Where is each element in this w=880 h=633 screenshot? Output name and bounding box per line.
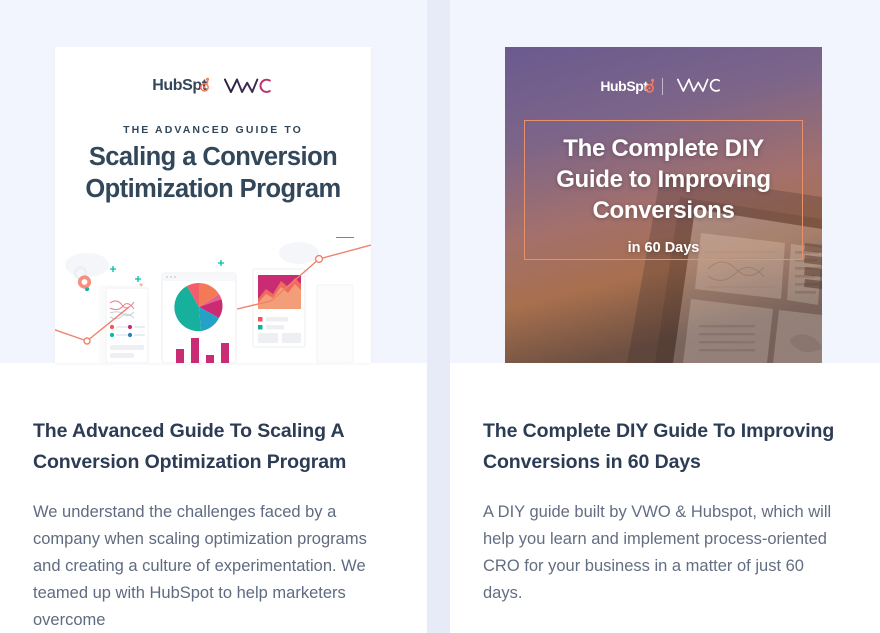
resource-card-grid: HubSpt xyxy=(0,0,880,633)
cover-kicker: THE ADVANCED GUIDE TO xyxy=(55,124,371,136)
card-heading[interactable]: The Advanced Guide To Scaling A Conversi… xyxy=(33,416,393,478)
card-column-divider xyxy=(427,0,450,633)
hubspot-logo-text: HubSp xyxy=(152,77,202,94)
resource-card-diy-guide[interactable]: HubSpt xyxy=(450,0,880,633)
card-body-right: The Complete DIY Guide To Improving Conv… xyxy=(483,416,843,607)
cover-thumbnail-left[interactable]: HubSpt xyxy=(55,47,371,363)
cover-logo-row: HubSpt xyxy=(55,77,371,95)
cover-title: The Complete DIY Guide to Improving Conv… xyxy=(529,133,798,227)
hubspot-logo: HubSpt xyxy=(600,78,647,94)
card-body-left: The Advanced Guide To Scaling A Conversi… xyxy=(33,416,393,633)
vwo-logo-mark xyxy=(224,77,274,95)
hubspot-logo: HubSpt xyxy=(152,77,207,95)
vwo-logo-mark xyxy=(677,77,723,94)
hubspot-logo-text: HubSp xyxy=(600,78,643,94)
cover-thumbnail-right[interactable]: HubSpt xyxy=(505,47,822,363)
vwo-logo xyxy=(677,77,727,95)
ebook-cover-photo: HubSpt xyxy=(505,47,822,363)
analytics-illustration xyxy=(55,237,371,363)
vwo-logo xyxy=(224,77,274,95)
logo-divider xyxy=(662,78,663,95)
card-description: We understand the challenges faced by a … xyxy=(33,499,393,633)
cover-title-line-1: The Complete DIY xyxy=(529,133,798,164)
card-description: A DIY guide built by VWO & Hubspot, whic… xyxy=(483,499,843,607)
card-heading[interactable]: The Complete DIY Guide To Improving Conv… xyxy=(483,416,843,478)
hubspot-sprocket-icon xyxy=(644,78,655,93)
cover-title-line-2: Guide to Improving xyxy=(529,164,798,195)
cover-subtitle: in 60 Days xyxy=(505,240,822,256)
cover-title: Scaling a Conversion Optimization Progra… xyxy=(65,141,361,205)
resource-card-scaling-conversion[interactable]: HubSpt xyxy=(0,0,427,633)
cover-title-line-1: Scaling a Conversion xyxy=(65,141,361,173)
hubspot-sprocket-icon xyxy=(199,77,210,92)
ebook-cover-illustration: HubSpt xyxy=(55,47,371,363)
cover-title-line-3: Conversions xyxy=(529,195,798,226)
cover-title-line-2: Optimization Program xyxy=(65,173,361,205)
cover-logo-row: HubSpt xyxy=(505,77,822,95)
